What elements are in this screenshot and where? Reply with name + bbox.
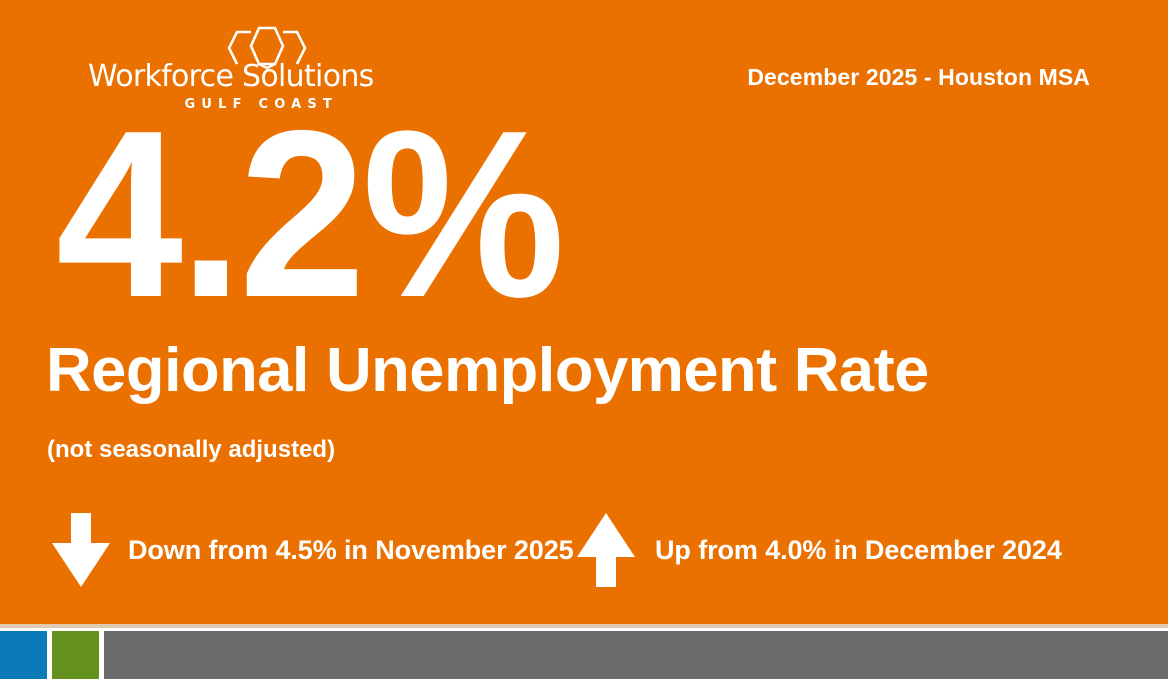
- period-region-label: December 2025 - Houston MSA: [747, 64, 1090, 91]
- comparison-previous-month-text: Down from 4.5% in November 2025: [128, 535, 574, 566]
- footer-swatch-blue: [0, 631, 47, 679]
- footer-swatch-gray: [104, 631, 1168, 679]
- comparison-previous-year-text: Up from 4.0% in December 2024: [655, 535, 1062, 566]
- arrow-down-icon: [48, 511, 114, 589]
- comparison-previous-month: Down from 4.5% in November 2025: [48, 505, 574, 595]
- footer-swatch-green: [52, 631, 99, 679]
- footer-bar: [0, 628, 1168, 679]
- unemployment-rate-value: 4.2%: [56, 96, 561, 334]
- arrow-up-icon: [573, 511, 639, 589]
- comparison-previous-year: Up from 4.0% in December 2024: [573, 505, 1062, 595]
- page-title: Regional Unemployment Rate: [46, 340, 929, 402]
- unemployment-rate-infographic: Workforce Solutions GULF COAST December …: [0, 0, 1168, 679]
- seasonal-adjustment-note: (not seasonally adjusted): [47, 438, 335, 462]
